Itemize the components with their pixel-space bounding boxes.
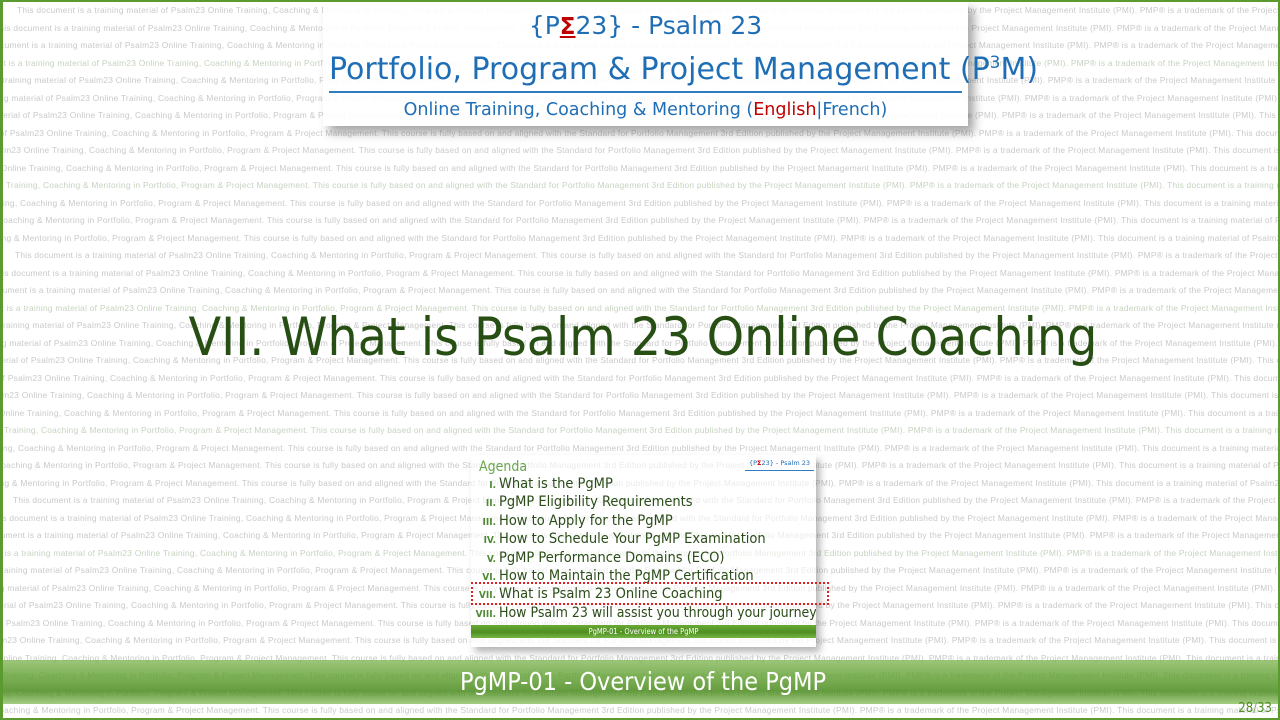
watermark-line: This document is a training material of … bbox=[3, 125, 1280, 143]
agenda-item[interactable]: I.What is the PgMP bbox=[471, 475, 816, 493]
agenda-item-numeral: I. bbox=[471, 477, 499, 495]
agenda-item[interactable]: VI.How to Maintain the PgMP Certificatio… bbox=[471, 567, 816, 585]
header-subtitle-text: Online Training, Coaching & Mentoring ( bbox=[404, 100, 754, 120]
header-card: {PƩ23} - Psalm 23 Portfolio, Program & P… bbox=[323, 2, 968, 126]
watermark-line: This document is a training material of … bbox=[3, 247, 1280, 265]
watermark-line: This document is a training material of … bbox=[3, 405, 1280, 423]
watermark-line: This document is a training material of … bbox=[3, 230, 1280, 248]
page-title-text: What is Psalm 23 Online Coaching bbox=[280, 307, 1097, 368]
agenda-item-label: What is Psalm 23 Online Coaching bbox=[499, 585, 723, 603]
watermark-line: This document is a training material of … bbox=[3, 142, 1280, 160]
watermark-line: This document is a training material of … bbox=[3, 177, 1280, 195]
agenda-item-label: PgMP Eligibility Requirements bbox=[499, 493, 693, 511]
header-language-french: French) bbox=[822, 100, 887, 120]
agenda-item-numeral: II. bbox=[471, 495, 499, 513]
header-main-title: Portfolio, Program & Project Management … bbox=[329, 44, 962, 93]
watermark-line: This document is a training material of … bbox=[3, 212, 1280, 230]
agenda-list: I.What is the PgMPII.PgMP Eligibility Re… bbox=[471, 475, 816, 622]
agenda-item-numeral: VI. bbox=[471, 569, 499, 587]
watermark-line: This document is a training material of … bbox=[3, 422, 1280, 440]
footer-title: PgMP-01 - Overview of the PgMP bbox=[3, 660, 1280, 704]
header-brand-prefix: {P bbox=[529, 11, 560, 40]
agenda-item-label: How to Maintain the PgMP Certification bbox=[499, 567, 754, 585]
header-brand-line: {PƩ23} - Psalm 23 bbox=[323, 11, 968, 42]
agenda-item[interactable]: II.PgMP Eligibility Requirements bbox=[471, 493, 816, 511]
agenda-panel-title: Agenda bbox=[479, 458, 527, 476]
agenda-item-numeral: V. bbox=[471, 551, 499, 569]
page-title-number: VII. bbox=[189, 307, 265, 368]
agenda-item-numeral: III. bbox=[471, 514, 499, 532]
agenda-item-numeral: VII. bbox=[471, 587, 499, 605]
header-language-english: English bbox=[753, 100, 816, 120]
page-number-total: 33 bbox=[1257, 701, 1272, 716]
agenda-mini-brand-header: {PƩ23} - Psalm 23 bbox=[745, 457, 814, 471]
slide-canvas: This document is a training material of … bbox=[0, 0, 1280, 720]
agenda-mini-brand-prefix: {P bbox=[749, 459, 757, 467]
agenda-item-label: How to Schedule Your PgMP Examination bbox=[499, 530, 766, 548]
agenda-item-label: How to Apply for the PgMP bbox=[499, 512, 673, 530]
watermark-line: This document is a training material of … bbox=[3, 387, 1280, 405]
agenda-item-numeral: VIII. bbox=[471, 606, 499, 624]
header-brand-middle: 23} - Psalm 23 bbox=[576, 11, 763, 40]
footer-band: PgMP-01 - Overview of the PgMP bbox=[3, 660, 1280, 704]
agenda-item[interactable]: VIII.How Psalm 23 will assist you throug… bbox=[471, 604, 816, 622]
agenda-panel-footer: PgMP-01 - Overview of the PgMP bbox=[471, 625, 816, 638]
watermark-line: This document is a training material of … bbox=[3, 160, 1280, 178]
header-subtitle: Online Training, Coaching & Mentoring (E… bbox=[323, 97, 968, 123]
agenda-item[interactable]: IV.How to Schedule Your PgMP Examination bbox=[471, 530, 816, 548]
agenda-mini-brand-rest: 23} - Psalm 23 bbox=[761, 459, 810, 467]
watermark-line: This document is a training material of … bbox=[3, 702, 1280, 720]
page-number: 28/33 bbox=[1238, 701, 1272, 717]
header-sigma-icon: Ʃ bbox=[560, 14, 576, 40]
watermark-line: This document is a training material of … bbox=[3, 265, 1280, 283]
agenda-panel: Agenda {PƩ23} - Psalm 23 I.What is the P… bbox=[471, 455, 816, 647]
watermark-line: This document is a training material of … bbox=[3, 195, 1280, 213]
watermark-line: This document is a training material of … bbox=[3, 370, 1280, 388]
agenda-item-numeral: IV. bbox=[471, 532, 499, 550]
agenda-panel-footer-shadow bbox=[471, 638, 816, 647]
agenda-item[interactable]: VII.What is Psalm 23 Online Coaching bbox=[471, 585, 816, 603]
agenda-item-label: How Psalm 23 will assist you through you… bbox=[499, 604, 816, 622]
agenda-item[interactable]: III.How to Apply for the PgMP bbox=[471, 512, 816, 530]
header-main-title-suffix: M) bbox=[1001, 52, 1039, 87]
agenda-item-label: PgMP Performance Domains (ECO) bbox=[499, 549, 725, 567]
agenda-item-label: What is the PgMP bbox=[499, 475, 613, 493]
watermark-line: This document is a training material of … bbox=[3, 282, 1280, 300]
header-main-title-sup: 3 bbox=[990, 53, 1001, 73]
page-title: VII.What is Psalm 23 Online Coaching bbox=[3, 305, 1280, 371]
header-main-title-text: Portfolio, Program & Project Management … bbox=[329, 52, 990, 87]
agenda-item[interactable]: V.PgMP Performance Domains (ECO) bbox=[471, 549, 816, 567]
page-number-current: 28 bbox=[1238, 701, 1253, 716]
